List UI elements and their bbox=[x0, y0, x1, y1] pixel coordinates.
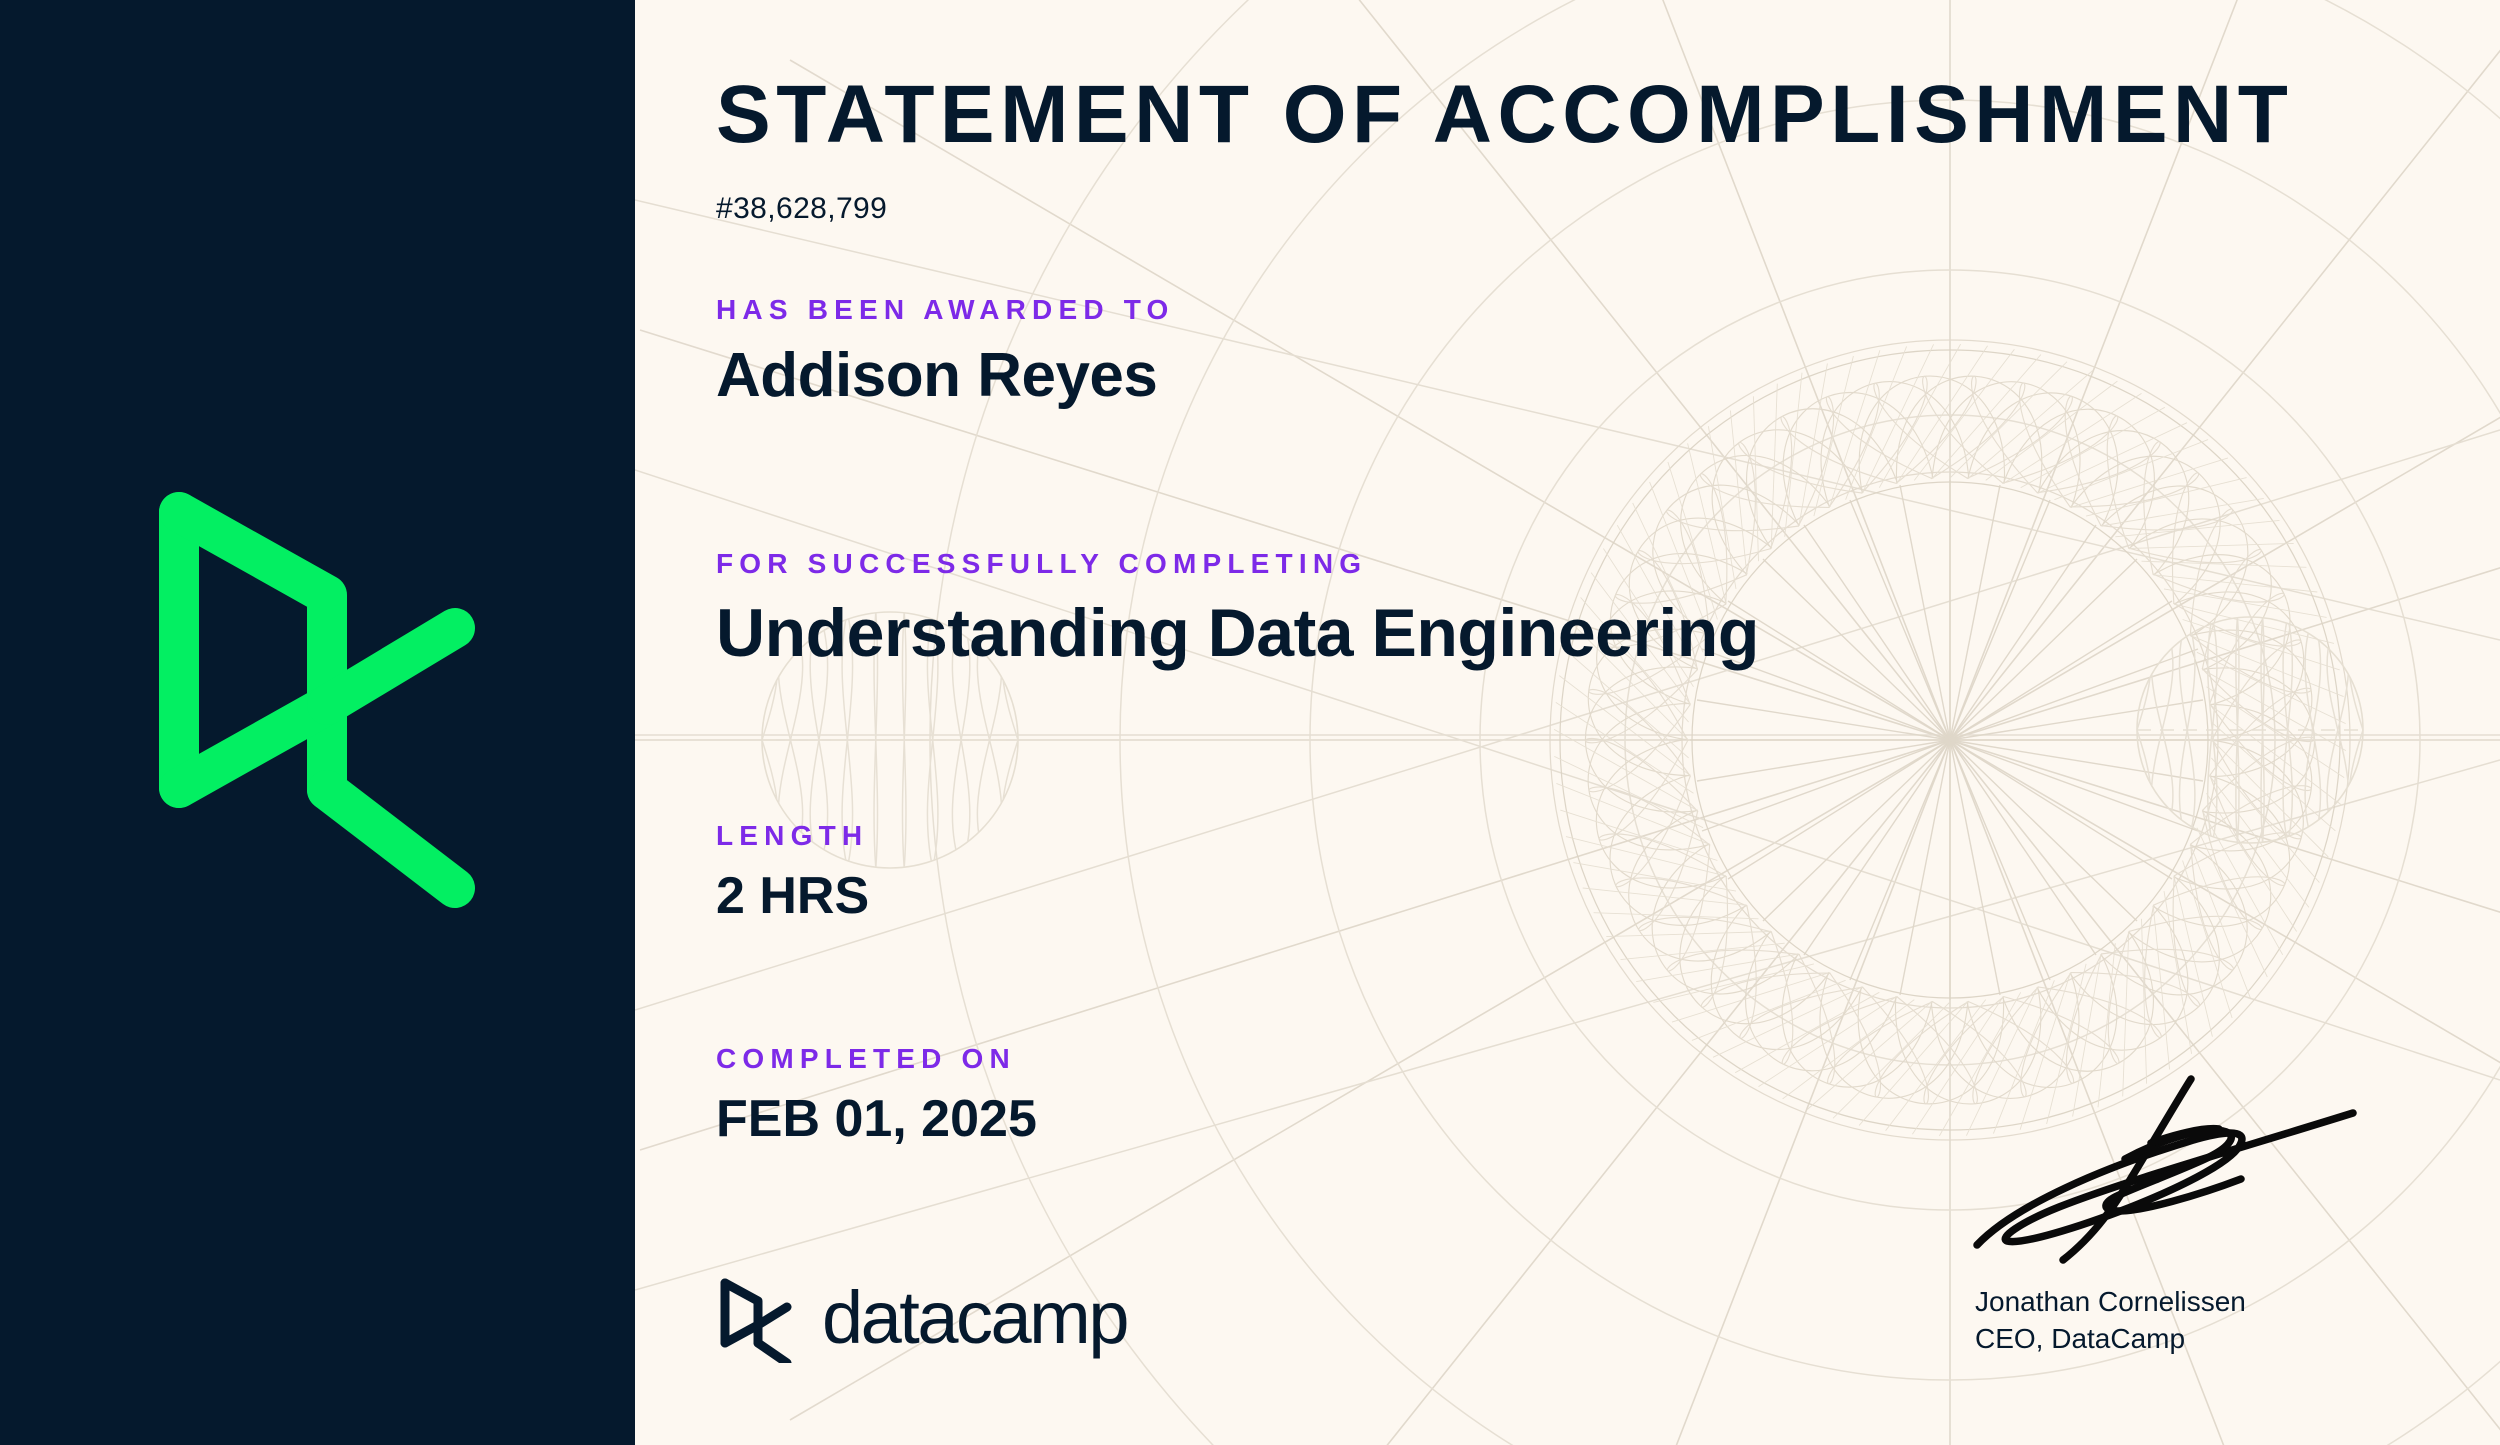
completion-date: FEB 01, 2025 bbox=[716, 1089, 1037, 1149]
datacamp-logo-icon bbox=[725, 1283, 787, 1363]
field-label-course: FOR SUCCESSFULLY COMPLETING bbox=[716, 548, 1759, 580]
datacamp-footer-logo: datacamp bbox=[718, 1277, 1218, 1363]
field-completed-on: COMPLETED ON FEB 01, 2025 bbox=[716, 1043, 1037, 1149]
field-course: FOR SUCCESSFULLY COMPLETING Understandin… bbox=[716, 548, 1759, 672]
signature-mark bbox=[1955, 1055, 2375, 1270]
field-label-awarded-to: HAS BEEN AWARDED TO bbox=[716, 294, 1175, 326]
signature-block: Jonathan Cornelissen CEO, DataCamp bbox=[1975, 1283, 2246, 1357]
certificate-number: #38,628,799 bbox=[716, 192, 887, 226]
certificate-page: STATEMENT OF ACCOMPLISHMENT #38,628,799 … bbox=[0, 0, 2500, 1445]
signer-name: Jonathan Cornelissen bbox=[1975, 1283, 2246, 1320]
field-length: LENGTH 2 HRS bbox=[716, 820, 869, 926]
datacamp-wordmark: datacamp bbox=[822, 1277, 1127, 1359]
certificate-content: STATEMENT OF ACCOMPLISHMENT #38,628,799 … bbox=[0, 0, 2500, 1445]
signer-role: CEO, DataCamp bbox=[1975, 1320, 2246, 1357]
field-label-completed-on: COMPLETED ON bbox=[716, 1043, 1037, 1075]
recipient-name: Addison Reyes bbox=[716, 340, 1175, 411]
course-length: 2 HRS bbox=[716, 866, 869, 926]
field-awarded-to: HAS BEEN AWARDED TO Addison Reyes bbox=[716, 294, 1175, 411]
field-label-length: LENGTH bbox=[716, 820, 869, 852]
course-title: Understanding Data Engineering bbox=[716, 594, 1759, 672]
page-title: STATEMENT OF ACCOMPLISHMENT bbox=[716, 68, 2293, 162]
